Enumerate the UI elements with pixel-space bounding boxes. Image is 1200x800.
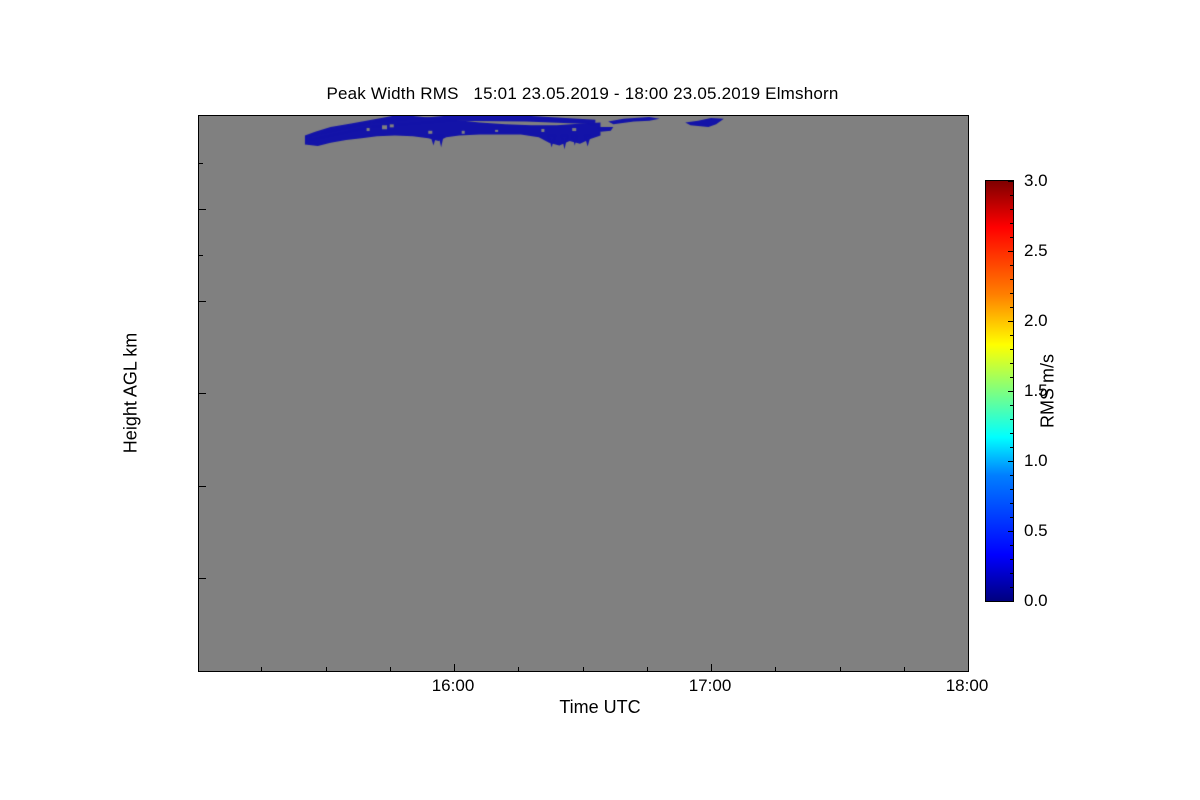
y-axis-tick-inner (199, 209, 206, 210)
x-axis-tick (711, 671, 712, 672)
colorbar-tick (1008, 391, 1014, 392)
x-axis-minor-tick (261, 667, 262, 671)
x-axis-tick-inner (968, 664, 969, 671)
colorbar-minor-tick (1010, 545, 1014, 546)
colorbar-minor-tick (1010, 335, 1014, 336)
x-axis-minor-tick (647, 667, 648, 671)
colorbar-minor-tick (1010, 587, 1014, 588)
y-axis-tick-inner (199, 578, 206, 579)
colorbar-minor-tick (1010, 419, 1014, 420)
colorbar-minor-tick (1010, 475, 1014, 476)
colorbar-minor-tick (1010, 489, 1014, 490)
x-axis-tick-inner (454, 664, 455, 671)
x-axis-minor-tick (326, 667, 327, 671)
x-axis-minor-tick (840, 667, 841, 671)
colorbar-minor-tick (1010, 265, 1014, 266)
x-axis-minor-tick (904, 667, 905, 671)
plot-area[interactable] (198, 115, 969, 672)
colorbar-tick-label: 0.5 (1024, 521, 1048, 541)
colorbar-tick (1008, 531, 1014, 532)
x-axis-minor-tick (775, 667, 776, 671)
colorbar-tick-label: 3.0 (1024, 171, 1048, 191)
colorbar-minor-tick (1010, 293, 1014, 294)
colorbar-minor-tick (1010, 517, 1014, 518)
colorbar-minor-tick (1010, 279, 1014, 280)
colorbar-tick-label: 0.0 (1024, 591, 1048, 611)
heatmap-data-layer (199, 116, 968, 671)
y-axis-tick-inner (199, 486, 206, 487)
colorbar-minor-tick (1010, 223, 1014, 224)
colorbar[interactable]: 3.02.52.01.51.00.50.0 (985, 180, 1014, 602)
x-axis-minor-tick (518, 667, 519, 671)
colorbar-tick (1008, 181, 1014, 182)
colorbar-minor-tick (1010, 195, 1014, 196)
colorbar-minor-tick (1010, 363, 1014, 364)
figure-canvas: Peak Width RMS 15:01 23.05.2019 - 18:00 … (0, 0, 1200, 800)
x-axis-tick (968, 671, 969, 672)
chart-title: Peak Width RMS 15:01 23.05.2019 - 18:00 … (198, 84, 967, 104)
colorbar-minor-tick (1010, 573, 1014, 574)
colorbar-minor-tick (1010, 237, 1014, 238)
x-axis-minor-tick (583, 667, 584, 671)
colorbar-tick (1008, 321, 1014, 322)
x-axis-label: Time UTC (0, 697, 1200, 718)
y-axis-label: Height AGL km (121, 333, 142, 453)
x-axis-tick-inner (711, 664, 712, 671)
colorbar-minor-tick (1010, 447, 1014, 448)
y-axis-tick-inner (199, 301, 206, 302)
x-axis-tick-label: 18:00 (946, 676, 989, 696)
y-axis-minor-tick (199, 163, 203, 164)
colorbar-minor-tick (1010, 503, 1014, 504)
colorbar-tick (1008, 601, 1014, 602)
colorbar-tick (1008, 251, 1014, 252)
colorbar-tick (1008, 461, 1014, 462)
y-axis-tick-inner (199, 393, 206, 394)
colorbar-minor-tick (1010, 349, 1014, 350)
x-axis-tick (454, 671, 455, 672)
y-axis-minor-tick (199, 255, 203, 256)
colorbar-tick-label: 1.0 (1024, 451, 1048, 471)
colorbar-title: RMS m/s (1038, 354, 1059, 428)
colorbar-minor-tick (1010, 307, 1014, 308)
colorbar-tick-label: 2.5 (1024, 241, 1048, 261)
x-axis-minor-tick (390, 667, 391, 671)
x-axis-tick-label: 16:00 (432, 676, 475, 696)
colorbar-minor-tick (1010, 433, 1014, 434)
colorbar-minor-tick (1010, 559, 1014, 560)
colorbar-tick-label: 2.0 (1024, 311, 1048, 331)
colorbar-minor-tick (1010, 377, 1014, 378)
x-axis-tick-label: 17:00 (689, 676, 732, 696)
colorbar-minor-tick (1010, 405, 1014, 406)
colorbar-minor-tick (1010, 209, 1014, 210)
